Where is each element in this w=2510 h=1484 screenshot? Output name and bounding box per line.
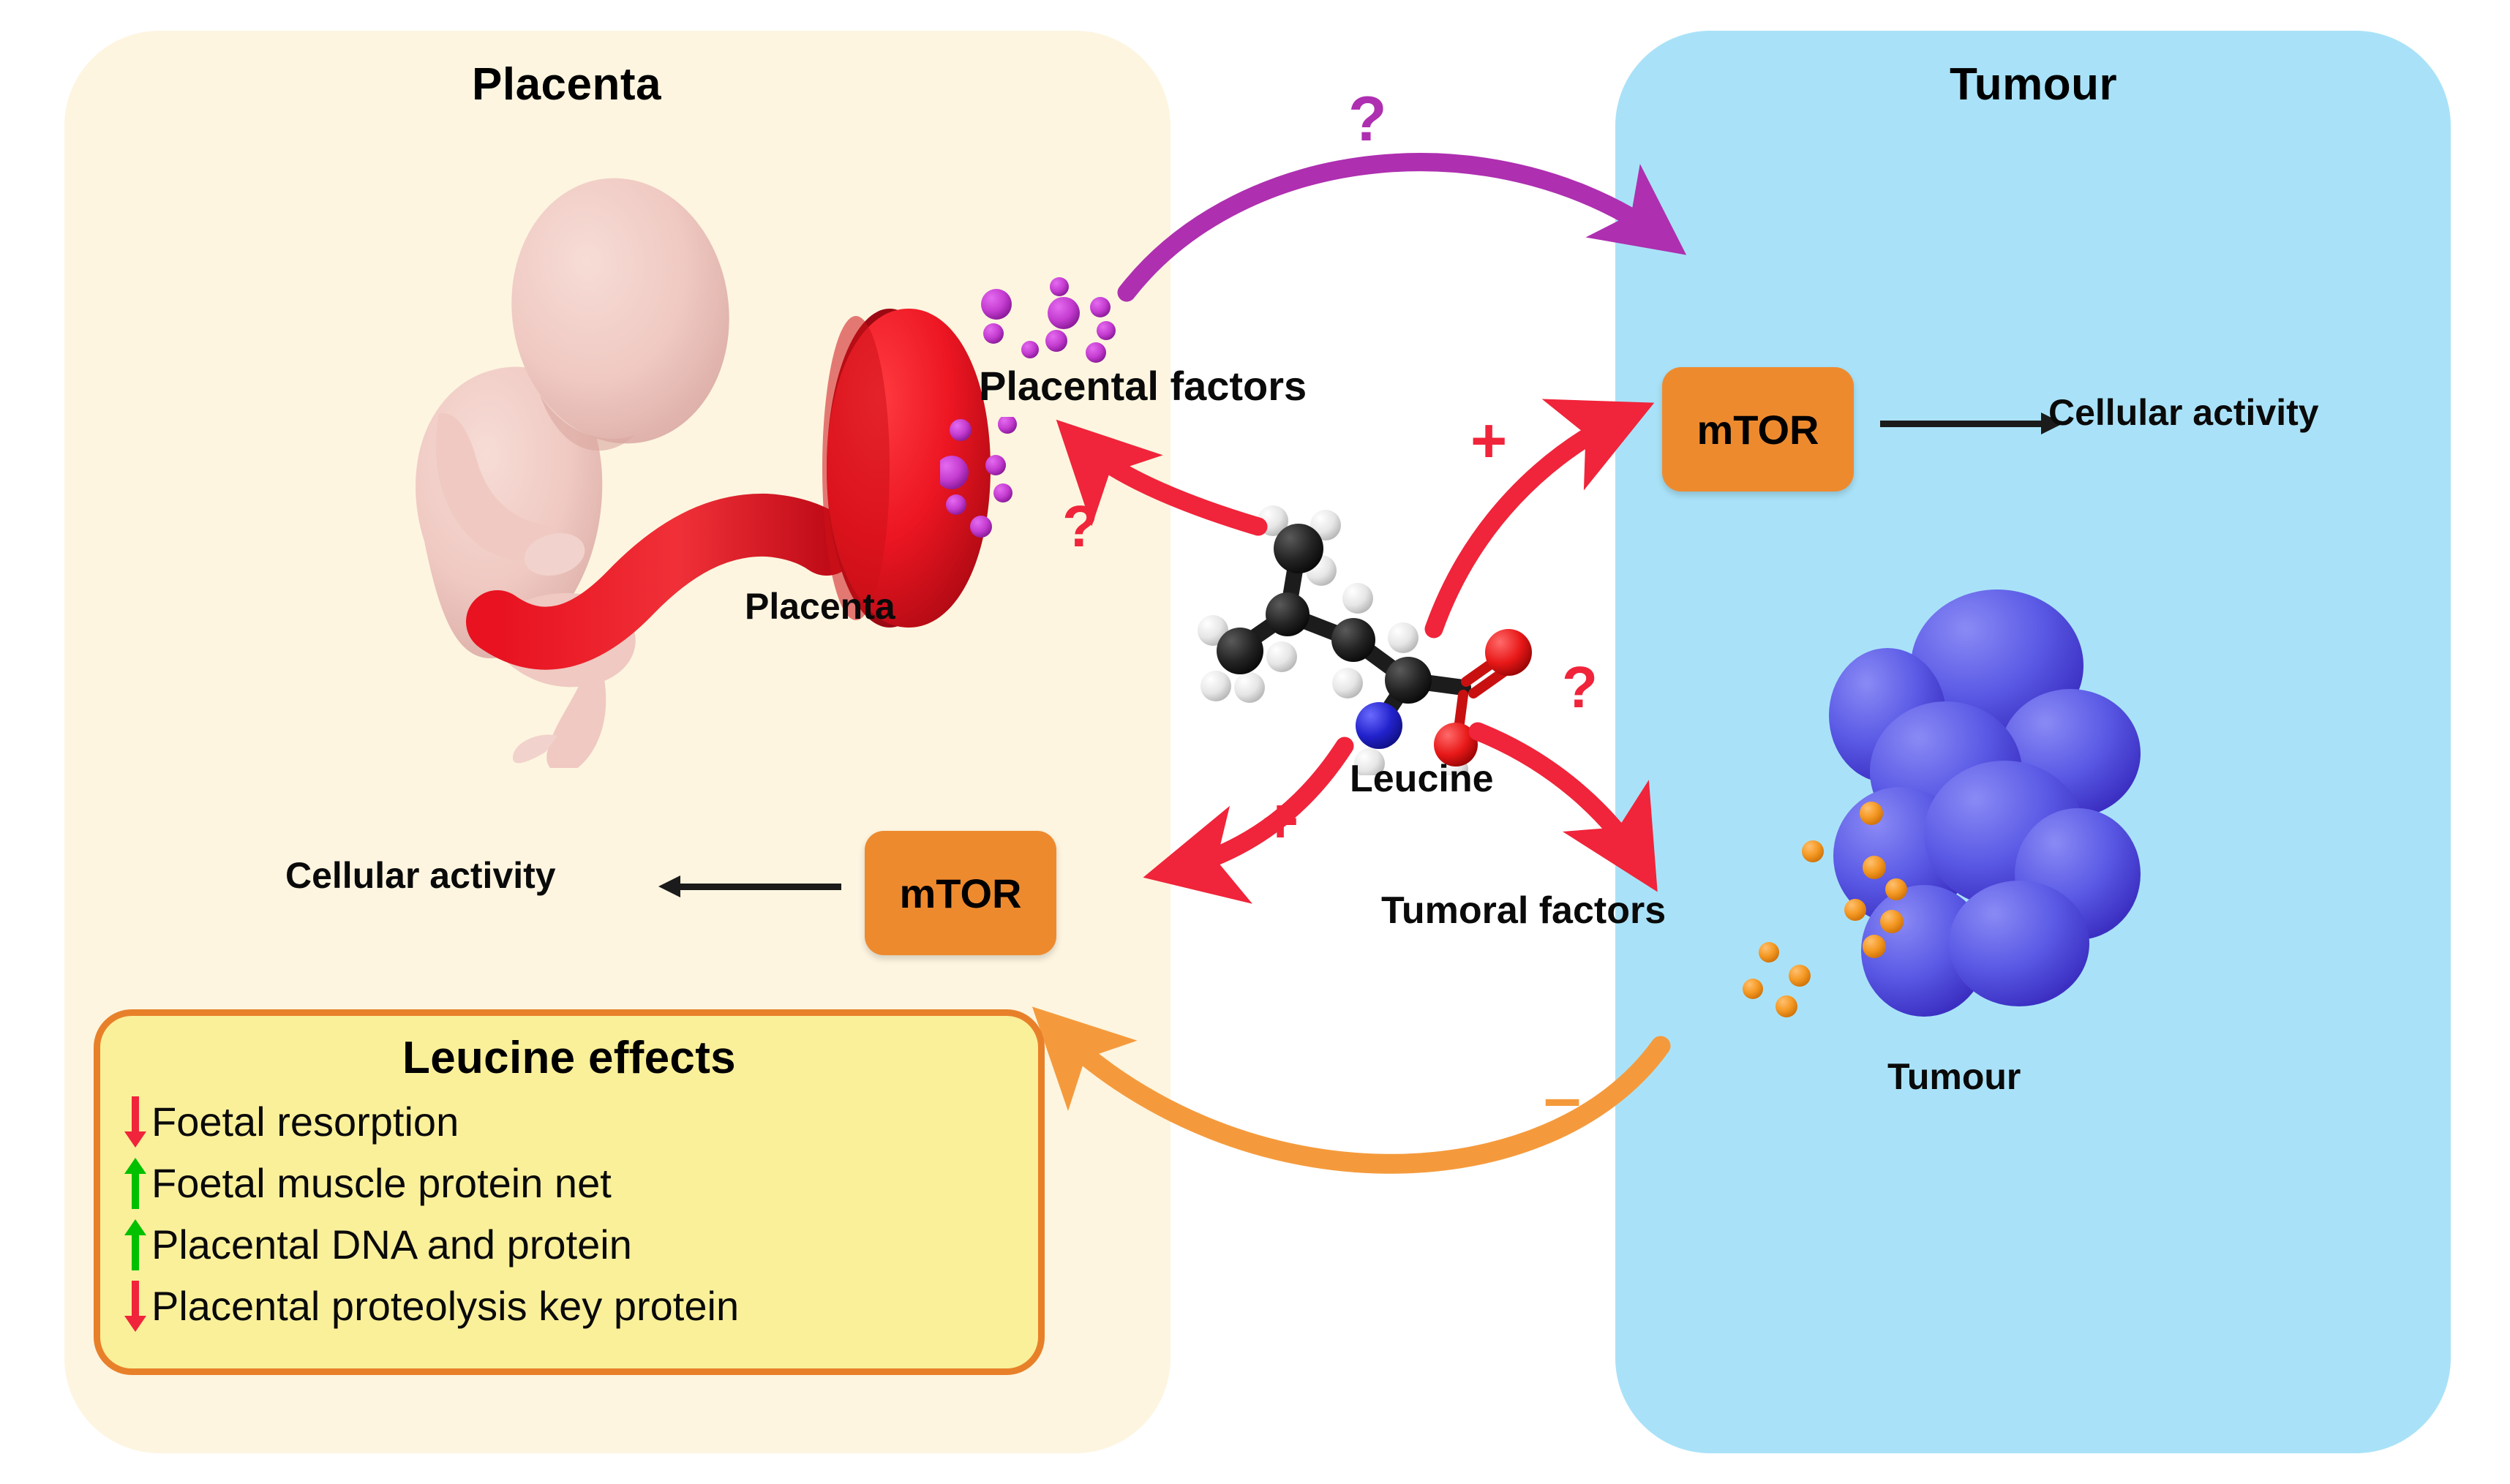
tumour-organ-label: Tumour [1887,1055,2021,1098]
placenta-panel-title: Placenta [472,59,661,110]
mtor-node-tumour[interactable]: mTOR [1662,367,1854,491]
foetus-illustration [344,154,1032,768]
arrow-up-icon [119,1156,151,1210]
placental-factors-label: Placental factors [979,362,1307,410]
plus-sign-tumour-mtor: + [1470,410,1507,472]
leucine-effects-title: Leucine effects [119,1032,1019,1084]
arrow-down-icon [119,1095,151,1149]
plus-sign-placenta-mtor: + [1262,790,1299,853]
diagram-canvas: ? ? ? + + – mTOR mTOR Placenta Tumour Pl… [0,0,2510,1484]
cellular-activity-label-tumour: Cellular activity [2048,391,2319,434]
leucine-effect-text: Foetal resorption [151,1101,459,1142]
leucine-label: Leucine [1350,757,1494,801]
tumoral-factors-label: Tumoral factors [1381,889,1666,933]
arrow-shaft [676,884,841,890]
question-mark-purple: ? [1348,88,1387,151]
placenta-organ-label: Placenta [745,585,895,628]
leucine-effect-text: Foetal muscle protein net [151,1163,612,1204]
leucine-effects-list: Foetal resorptionFoetal muscle protein n… [119,1091,1019,1337]
arrow-down-icon [119,1279,151,1333]
tumour-panel-title: Tumour [1950,59,2117,110]
leucine-effect-row: Foetal resorption [119,1091,1019,1153]
placental-factor-dots-top [966,271,1258,373]
leucine-effect-text: Placental DNA and protein [151,1224,632,1265]
tumoral-factor-dots [1683,797,1975,1046]
question-mark-red-right: ? [1562,658,1598,717]
arrow-shaft [1880,421,2045,427]
minus-sign-tumoral-effect: – [1544,1064,1581,1131]
leucine-effect-text: Placental proteolysis key protein [151,1286,739,1327]
question-mark-red-left: ? [1062,497,1098,556]
leucine-effects-box: Leucine effects Foetal resorptionFoetal … [94,1009,1045,1375]
cellular-activity-label-placenta: Cellular activity [285,854,556,897]
mtor-node-placenta[interactable]: mTOR [865,831,1056,955]
leucine-effect-row: Foetal muscle protein net [119,1153,1019,1214]
leucine-effect-row: Placental proteolysis key protein [119,1276,1019,1337]
leucine-molecule [1171,468,1653,775]
arrow-up-icon [119,1218,151,1272]
leucine-effect-row: Placental DNA and protein [119,1214,1019,1276]
